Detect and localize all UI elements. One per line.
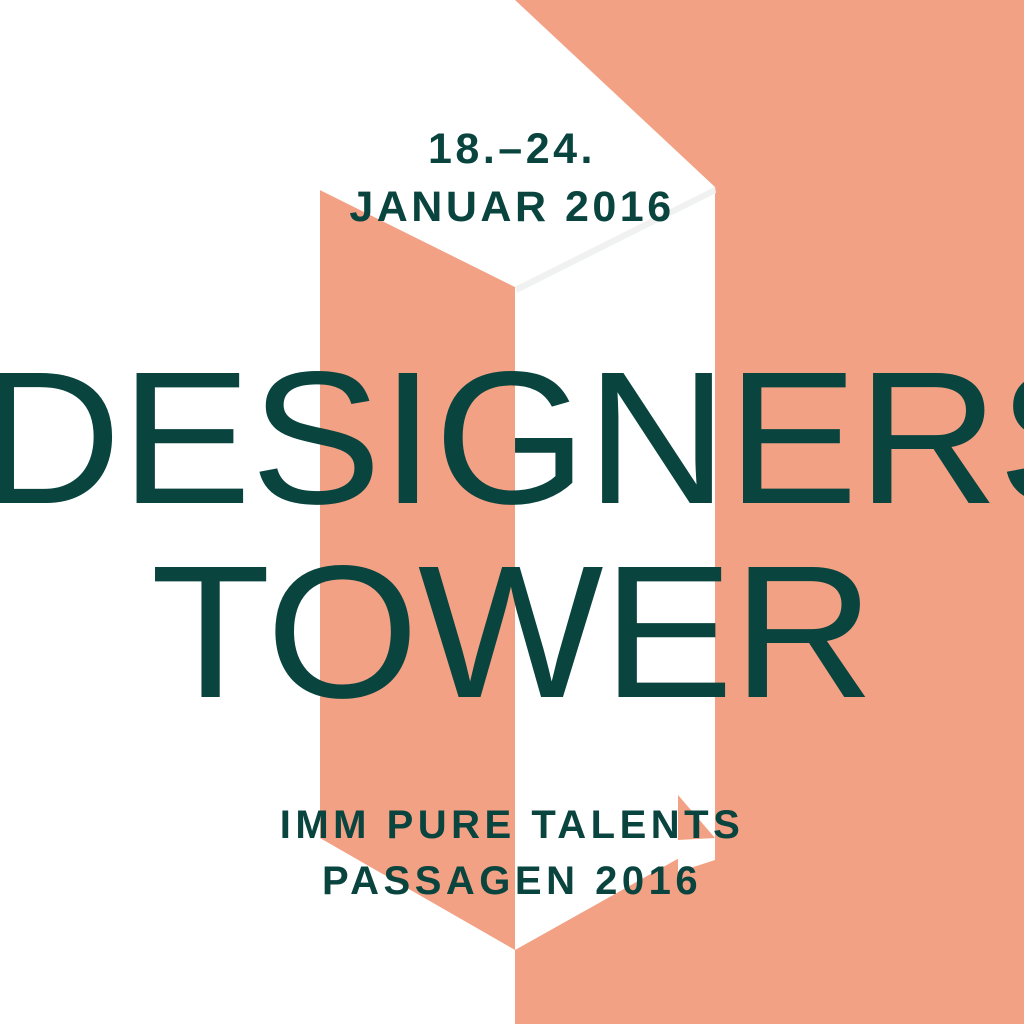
type-layer: 18.–24. JANUAR 2016 DESIGNERS TOWER IMM …	[0, 0, 1024, 1024]
date-line-2: JANUAR 2016	[0, 178, 1024, 236]
headline-line-1: DESIGNERS	[0, 352, 1024, 526]
poster-canvas: 18.–24. JANUAR 2016 DESIGNERS TOWER IMM …	[0, 0, 1024, 1024]
date-line-1: 18.–24.	[0, 120, 1024, 178]
event-date: 18.–24. JANUAR 2016	[0, 120, 1024, 236]
event-series: IMM PURE TALENTS PASSAGEN 2016	[0, 797, 1024, 909]
poster-title: DESIGNERS TOWER	[0, 352, 1024, 720]
footer-line-2: PASSAGEN 2016	[0, 853, 1024, 909]
footer-line-1: IMM PURE TALENTS	[0, 797, 1024, 853]
headline-line-2: TOWER	[0, 546, 1024, 720]
